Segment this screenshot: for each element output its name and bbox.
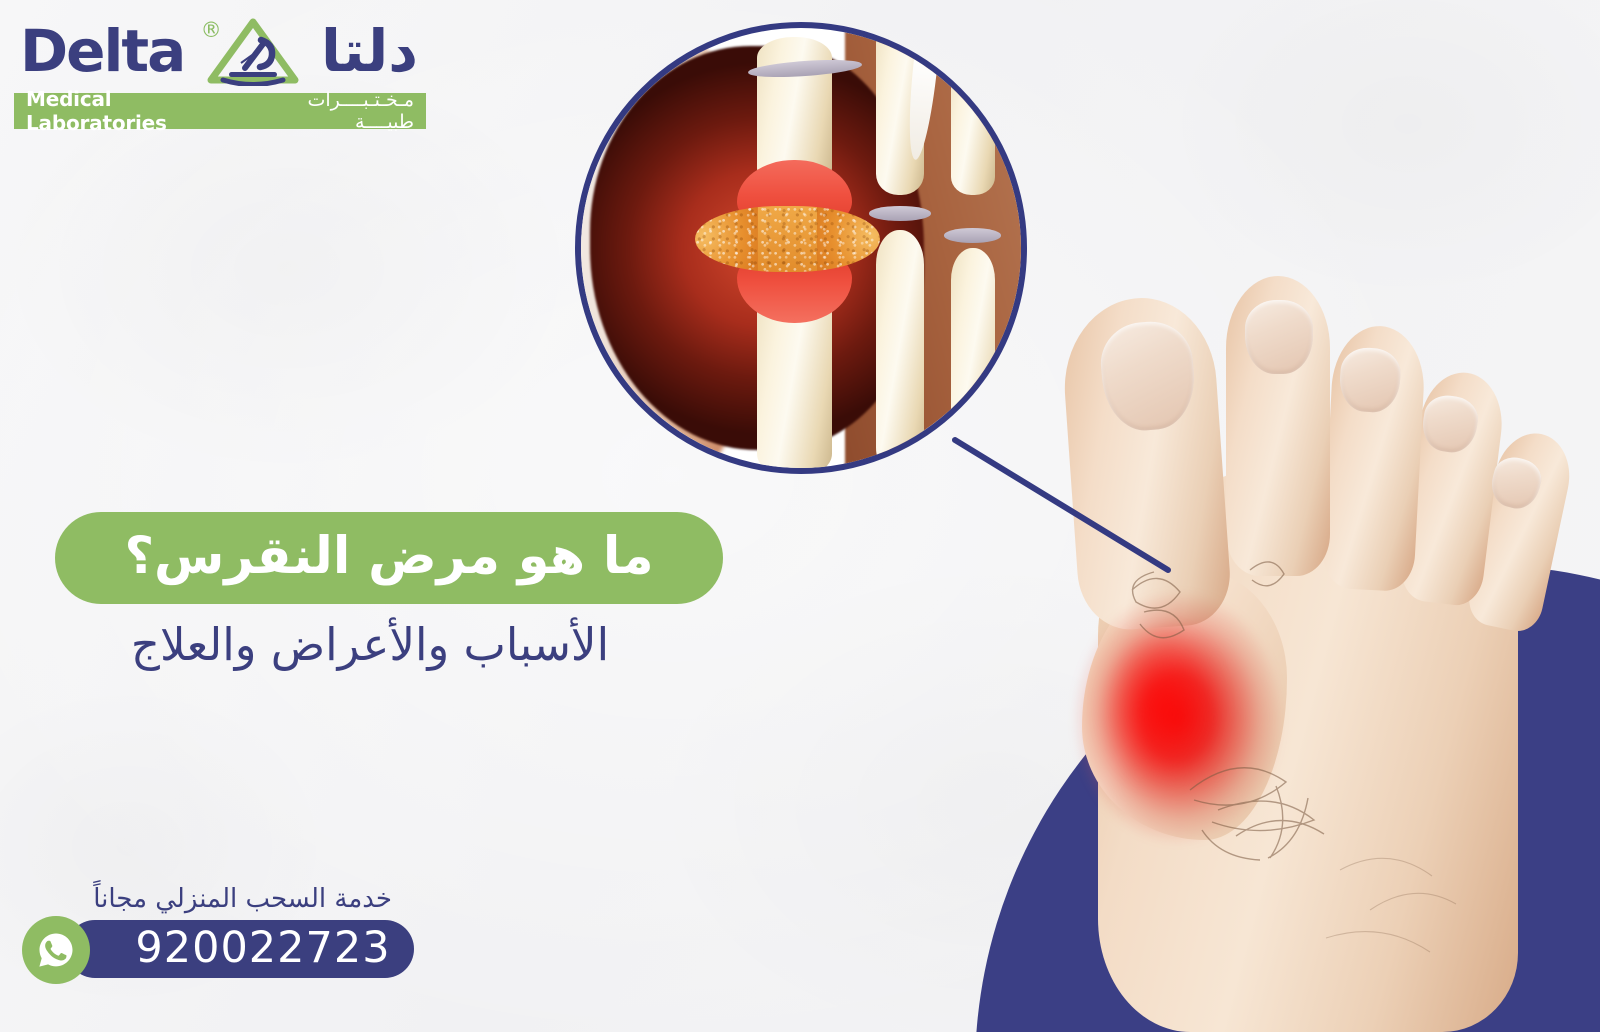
gout-awareness-banner: Delta ® دلتا Medical Laboratories مـخـتـ… <box>0 0 1600 1032</box>
cartilage-layer-2 <box>869 206 931 221</box>
joint-illustration <box>581 28 1021 468</box>
contact-block: خدمة السحب المنزلي مجاناً 920022723 <box>22 884 422 982</box>
adjacent-bone-lower <box>876 230 924 474</box>
phone-row[interactable]: 920022723 <box>22 920 422 982</box>
gout-joint-closeup-magnifier <box>575 22 1027 474</box>
phone-number: 920022723 <box>135 927 390 970</box>
urate-crystal-tophus <box>695 206 880 272</box>
cartilage-layer-3 <box>944 228 1001 243</box>
phone-pill[interactable]: 920022723 <box>66 920 414 978</box>
whatsapp-icon[interactable] <box>22 916 90 984</box>
service-note-text: خدمة السحب المنزلي مجاناً <box>22 884 392 914</box>
adjacent-bone-lower-2 <box>951 248 995 474</box>
adjacent-bone-upper-2 <box>951 46 995 196</box>
